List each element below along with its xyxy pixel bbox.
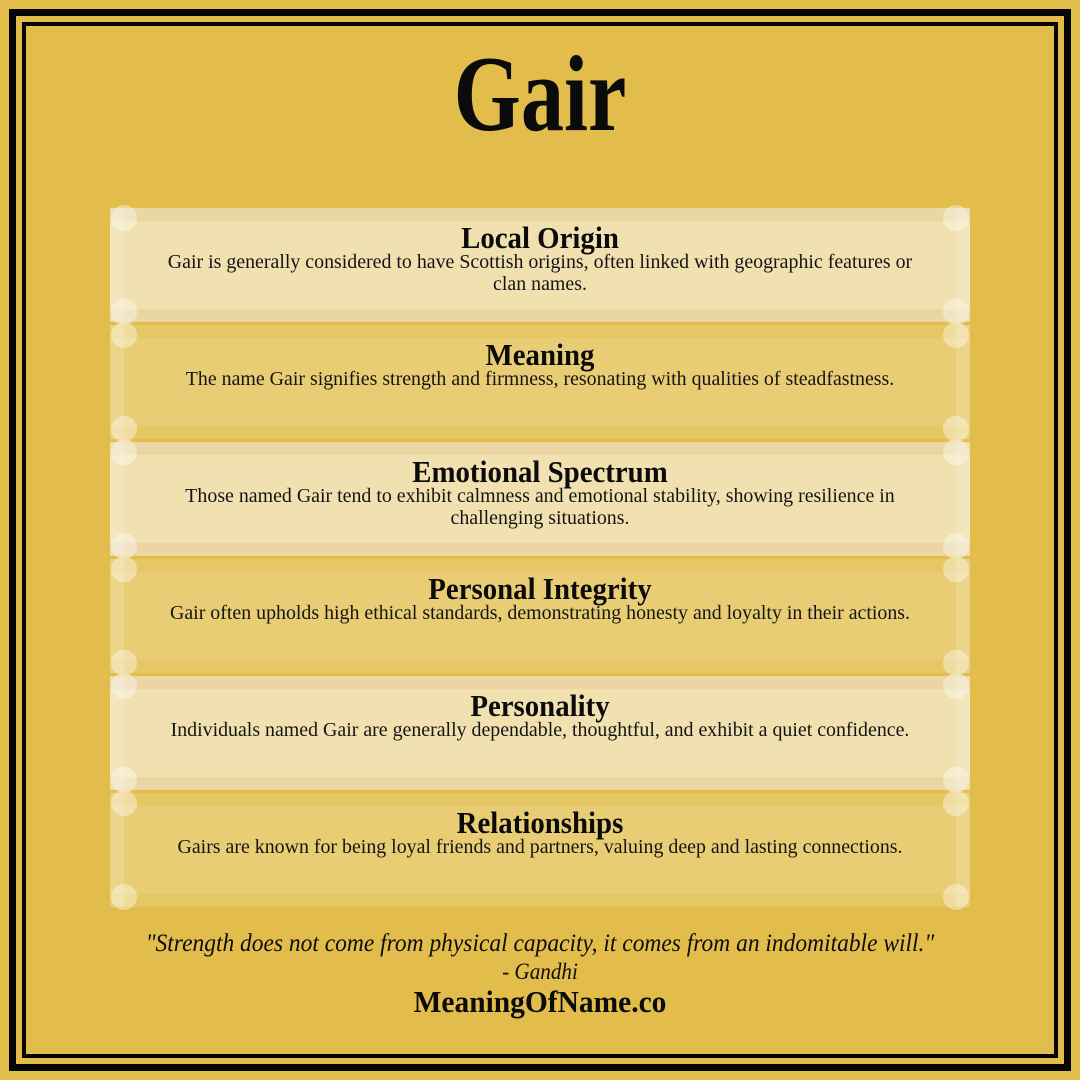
quote-text: "Strength does not come from physical ca… [67,929,1013,958]
card-corner-dot-icon [111,322,137,348]
card-corner-dot-icon [111,790,137,816]
card-corner-dot-icon [943,790,969,816]
card-text: Emotional SpectrumThose named Gair tend … [136,456,944,529]
card-heading: Emotional Spectrum [164,456,915,487]
card-body: Gair is generally considered to have Sco… [148,251,932,295]
poster: Gair Local OriginGair is generally consi… [0,0,1080,1080]
attribute-card: Local OriginGair is generally considered… [110,208,970,322]
attribute-card: MeaningThe name Gair signifies strength … [110,325,970,439]
card-heading: Local Origin [164,222,915,253]
attribute-card: PersonalityIndividuals named Gair are ge… [110,676,970,790]
poster-content: Gair Local OriginGair is generally consi… [26,26,1054,1054]
card-text: MeaningThe name Gair signifies strength … [136,339,944,390]
card-band-bot [110,426,970,439]
card-corner-dot-icon [111,556,137,582]
card-band-bot [110,894,970,907]
card-band-bot [110,660,970,673]
card-body: Gair often upholds high ethical standard… [148,602,932,624]
card-corner-dot-icon [111,673,137,699]
card-body: Those named Gair tend to exhibit calmnes… [148,485,932,529]
card-band-bot [110,543,970,556]
card-corner-dot-icon [943,556,969,582]
attribute-card: Emotional SpectrumThose named Gair tend … [110,442,970,556]
page-title: Gair [129,38,951,151]
card-corner-dot-icon [943,673,969,699]
card-band-bot [110,777,970,790]
card-corner-dot-icon [943,439,969,465]
card-heading: Relationships [164,807,915,838]
card-corner-dot-icon [111,439,137,465]
card-body: Individuals named Gair are generally dep… [148,719,932,741]
card-text: RelationshipsGairs are known for being l… [136,807,944,858]
brand-label: MeaningOfName.co [52,985,1029,1020]
card-corner-dot-icon [111,205,137,231]
footer: "Strength does not come from physical ca… [26,929,1054,1020]
card-corner-dot-icon [943,205,969,231]
card-corner-dot-icon [111,884,137,910]
attribute-card-list: Local OriginGair is generally considered… [110,208,970,910]
card-band-bot [110,309,970,322]
card-text: Personal IntegrityGair often upholds hig… [136,573,944,624]
card-heading: Meaning [164,339,915,370]
card-heading: Personality [164,690,915,721]
card-heading: Personal Integrity [164,573,915,604]
card-corner-dot-icon [943,884,969,910]
card-body: The name Gair signifies strength and fir… [148,368,932,390]
attribute-card: Personal IntegrityGair often upholds hig… [110,559,970,673]
card-text: PersonalityIndividuals named Gair are ge… [136,690,944,741]
card-body: Gairs are known for being loyal friends … [148,836,932,858]
quote-attribution: - Gandhi [67,959,1013,985]
card-text: Local OriginGair is generally considered… [136,222,944,295]
card-corner-dot-icon [943,322,969,348]
attribute-card: RelationshipsGairs are known for being l… [110,793,970,907]
